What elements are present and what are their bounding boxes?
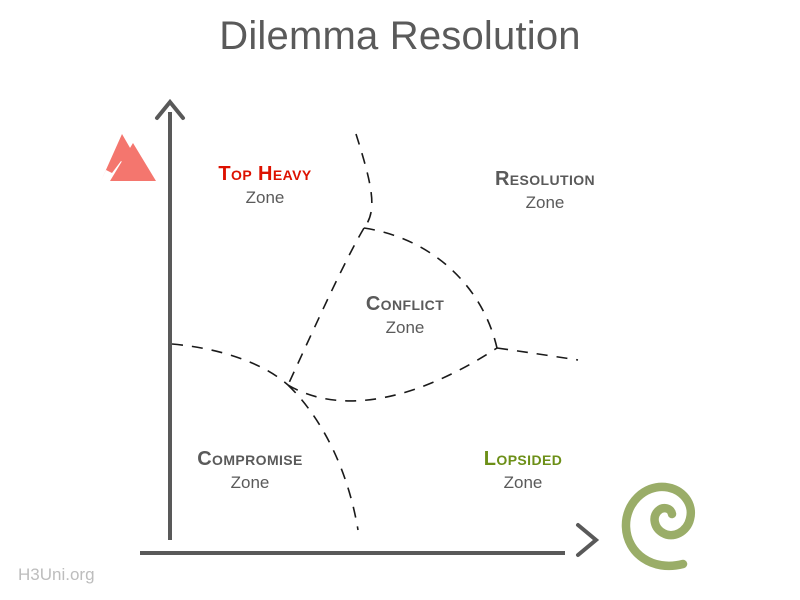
- page-title: Dilemma Resolution: [0, 14, 800, 59]
- zone-sub-compromise: Zone: [160, 472, 340, 493]
- zone-name-conflict: Conflict: [325, 293, 485, 315]
- zone-sub-resolution: Zone: [455, 192, 635, 213]
- zone-name-resolution: Resolution: [455, 168, 635, 190]
- zone-label-resolution: Resolution Zone: [455, 168, 635, 213]
- zone-sub-lopsided: Zone: [448, 472, 598, 493]
- dilemma-resolution-diagram: Dilemma Resolution Top Heavy Zone Resolu…: [0, 0, 800, 600]
- boundary-resolution-lopsided: [497, 348, 578, 360]
- arrow-right-icon: [578, 525, 596, 555]
- zone-sub-top-heavy: Zone: [175, 187, 355, 208]
- spiral-icon-path: [626, 487, 691, 566]
- zone-label-top-heavy: Top Heavy Zone: [175, 163, 355, 208]
- zone-sub-conflict: Zone: [325, 317, 485, 338]
- zone-name-compromise: Compromise: [160, 448, 340, 470]
- zone-label-conflict: Conflict Zone: [325, 293, 485, 338]
- zone-label-compromise: Compromise Zone: [160, 448, 340, 493]
- boundary-topheavy-resolution: [356, 134, 372, 228]
- zone-name-lopsided: Lopsided: [448, 448, 598, 470]
- footer-watermark: H3Uni.org: [18, 565, 95, 585]
- spiral-icon: [626, 487, 691, 566]
- zone-name-top-heavy: Top Heavy: [175, 163, 355, 185]
- zone-label-lopsided: Lopsided Zone: [448, 448, 598, 493]
- boundary-topheavy-compromise: [172, 344, 288, 385]
- mountain-icon: [101, 134, 156, 181]
- boundary-conflict-south: [288, 348, 497, 401]
